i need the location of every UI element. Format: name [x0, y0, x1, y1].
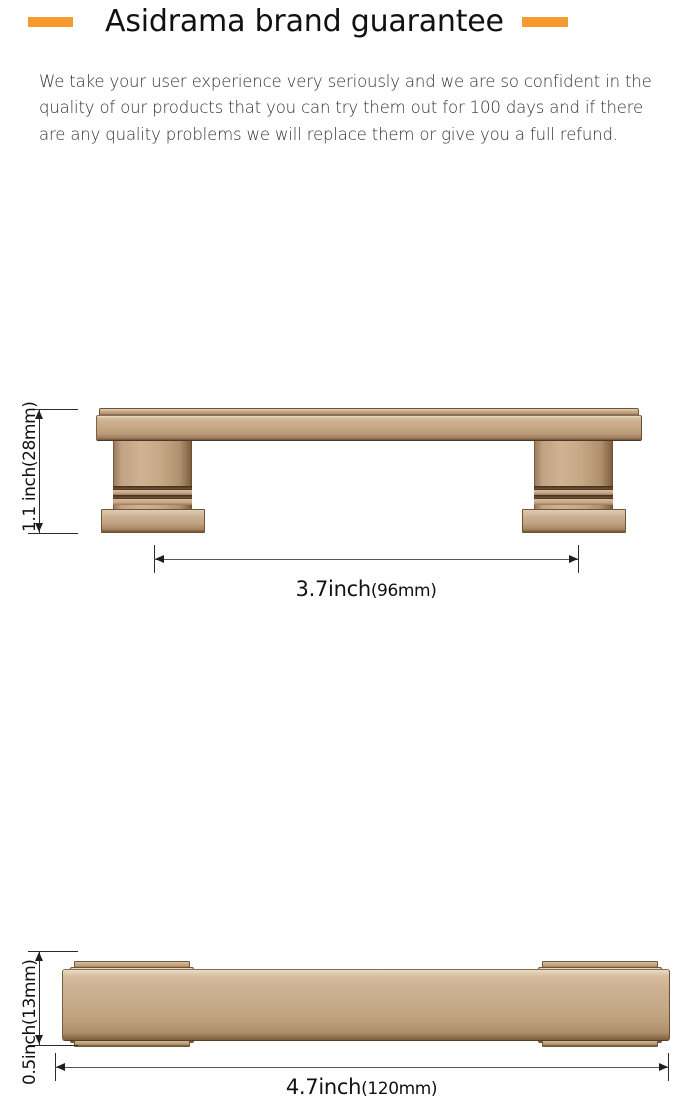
product-figure-side-view: 0.5inch(13mm) 4.7inch(120mm): [0, 455, 679, 646]
brand-header: Asidrama brand guarantee: [0, 0, 679, 44]
dimension-width-inch: 4.7inch: [286, 1075, 361, 1099]
page-title: Asidrama brand guarantee: [105, 7, 504, 37]
dimension-height-label: 0.5inch(13mm): [20, 960, 40, 1085]
handle-rail: [96, 415, 642, 441]
orange-dash-right-icon: [522, 17, 568, 27]
dimension-width-mm: (120mm): [361, 1079, 437, 1099]
dim-extension-right: [668, 1053, 669, 1081]
handle-side-bar: [62, 969, 670, 1041]
dim-arrow-right-icon: [659, 1063, 668, 1071]
guarantee-description: We take your user experience very seriou…: [39, 69, 665, 149]
dim-line-horizontal: [55, 1067, 668, 1068]
orange-dash-left-icon: [28, 17, 73, 27]
dim-arrow-left-icon: [56, 1063, 65, 1071]
dimension-width-label: 4.7inch(120mm): [55, 1075, 668, 1099]
product-figure-front-view: 1.1 inch(28mm) 3.7inch(96mm): [0, 190, 679, 420]
